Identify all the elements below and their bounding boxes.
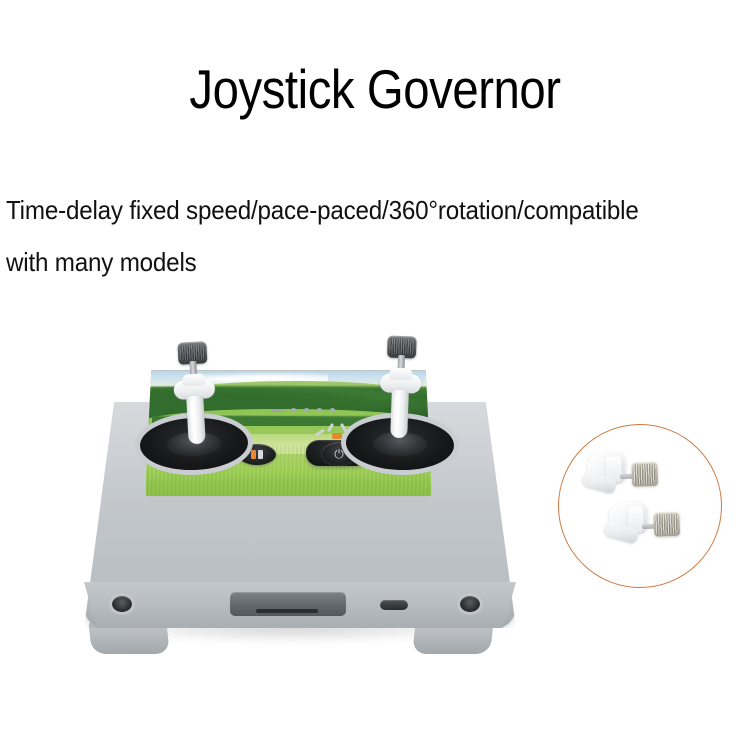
joystick-governor-part-b	[601, 501, 689, 558]
part-a-knurled-knob	[631, 462, 658, 487]
pause-icon	[249, 450, 266, 459]
battery-led-row	[272, 407, 344, 413]
drone-remote-controller: ⏻	[62, 330, 532, 660]
battery-dash-indicator	[272, 409, 283, 412]
part-b-knurled-knob	[653, 512, 680, 537]
product-marketing-image: Joystick Governor Time-delay fixed speed…	[0, 0, 750, 750]
joystick-governor-left[interactable]	[171, 341, 216, 443]
power-icon: ⏻	[334, 448, 344, 460]
page-title: Joystick Governor	[53, 57, 698, 121]
feature-line-2: with many models	[6, 247, 197, 277]
battery-dot-1	[291, 408, 296, 412]
accessory-callout	[558, 424, 722, 588]
corner-port-left[interactable]	[112, 596, 132, 612]
battery-dot-2	[304, 408, 309, 412]
port-cover[interactable]	[230, 592, 346, 616]
joystick-stick-left[interactable]	[186, 396, 205, 445]
joystick-governor-right[interactable]	[378, 335, 421, 436]
battery-dot-4	[330, 408, 335, 412]
feature-line-1: Time-delay fixed speed/pace-paced/360°ro…	[6, 195, 639, 225]
corner-port-right[interactable]	[460, 596, 480, 612]
joystick-stick-right[interactable]	[390, 390, 409, 439]
battery-dot-3	[317, 408, 322, 412]
usb-c-port[interactable]	[380, 600, 408, 610]
joystick-governor-part-a	[579, 451, 667, 508]
callout-content	[566, 432, 714, 580]
